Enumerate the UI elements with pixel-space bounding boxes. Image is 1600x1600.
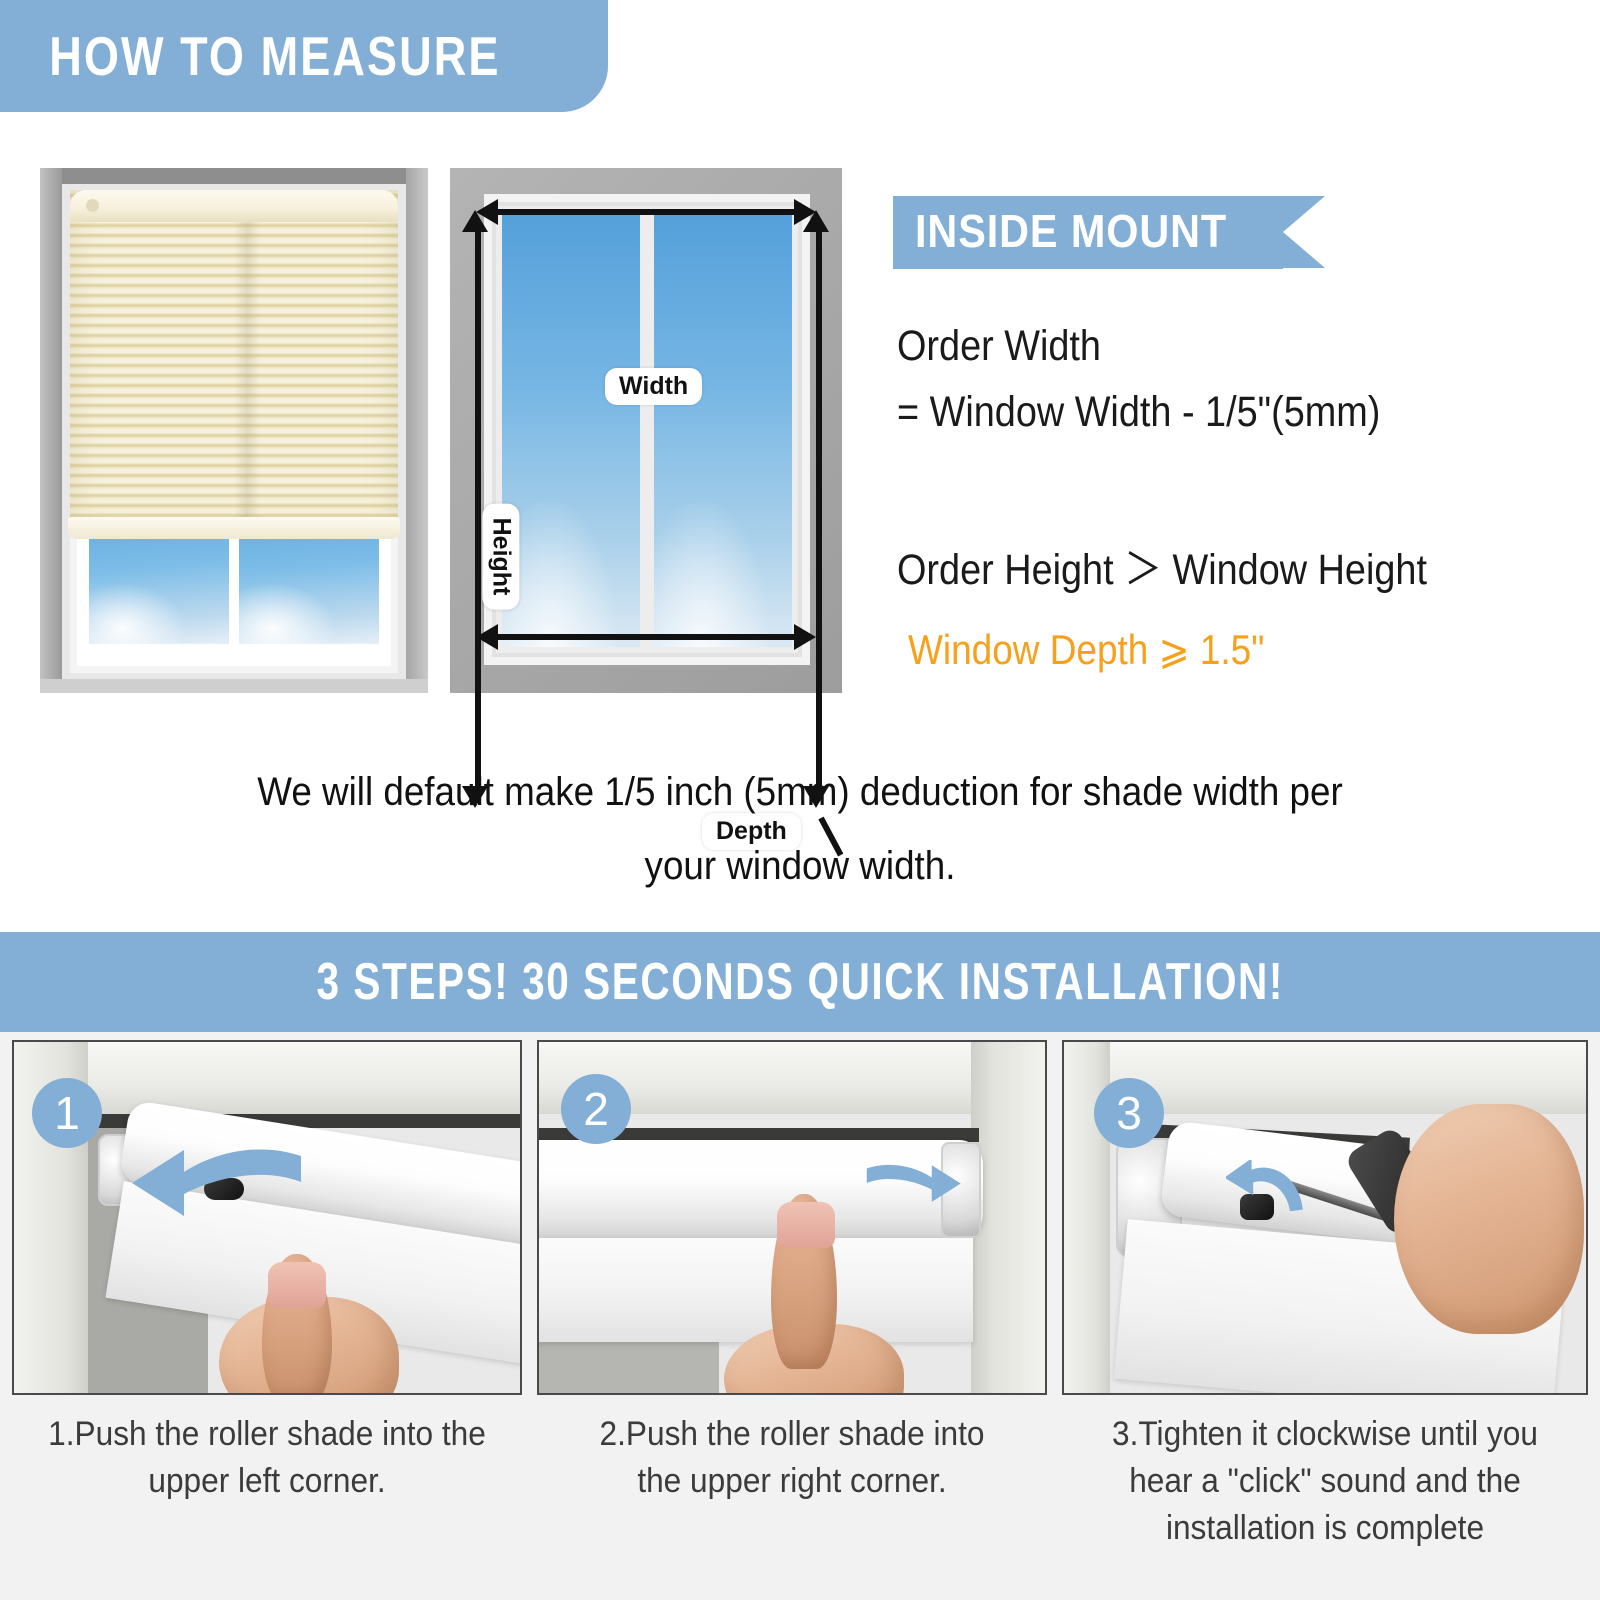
step-3-caption-line1: 3.Tighten it clockwise until you [1080,1411,1569,1458]
cellular-shade [70,190,398,532]
diagram-sky-pane-left [502,212,640,647]
depth-arrow-head-left [476,624,498,650]
step-3-badge: 3 [1094,1078,1164,1148]
step-1-caption: 1.Push the roller shade into the upper l… [12,1411,522,1505]
arrow-right-icon [864,1157,964,1209]
deduction-note-line2: your window width. [156,829,1444,903]
step-3-caption-line3: installation is complete [1080,1505,1569,1552]
installation-steps-section: 1 1.Push the roller shade into the upper… [0,1032,1600,1600]
wall-recess-left [40,168,62,693]
thumbnail [777,1202,835,1248]
step-2-photo: 2 [537,1040,1047,1395]
spec-window-depth: Window Depth ⩾ 1.5" [908,625,1264,674]
width-arrow-line [496,209,796,215]
step-panel-2: 2 2.Push the roller shade into the upper… [537,1040,1047,1505]
wall-recess-right [406,168,428,693]
steps-banner: 3 STEPS! 30 SECONDS QUICK INSTALLATION! [0,932,1600,1032]
step-3-photo: 3 [1062,1040,1588,1395]
headrail-knob-icon [86,199,99,212]
step-2-caption-line2: the upper right corner. [555,1458,1029,1505]
height-arrow-head-up [462,210,488,232]
deduction-note-line1: We will default make 1/5 inch (5mm) dedu… [156,755,1444,829]
depth-arrow-line [496,634,796,640]
arrow-left-icon [126,1142,306,1222]
steps-banner-title: 3 STEPS! 30 SECONDS QUICK INSTALLATION! [316,952,1284,1012]
shade-headrail [70,190,398,222]
roller-fabric [537,1238,973,1342]
spec-order-width-line2: = Window Width - 1/5"(5mm) [897,388,1380,437]
how-to-measure-header: HOW TO MEASURE [0,0,608,112]
step-1-photo: 1 [12,1040,522,1395]
right-edge-arrow-line [816,230,822,790]
window-panes [502,212,792,647]
height-label: Height [482,504,519,610]
wall-recess-top [40,168,428,184]
inside-mount-title: INSIDE MOUNT [915,204,1227,258]
page-title: HOW TO MEASURE [0,24,501,88]
step-2-caption: 2.Push the roller shade into the upper r… [537,1411,1047,1505]
hand [1394,1104,1584,1334]
cellular-shade-photo [40,168,428,693]
shade-shadow [234,222,260,528]
step-1-caption-line2: upper left corner. [30,1458,504,1505]
window-frame [484,194,810,665]
step-1-badge: 1 [32,1078,102,1148]
step-2-badge: 2 [561,1074,631,1144]
step-2-caption-line1: 2.Push the roller shade into [555,1411,1029,1458]
step-panel-1: 1 1.Push the roller shade into the upper… [12,1040,522,1505]
step-panel-3: 3 3.Tighten it clockwise until you hear … [1062,1040,1588,1552]
spec-order-width-line1: Order Width [897,322,1101,371]
diagram-sky-pane-right [654,212,792,647]
step-3-caption: 3.Tighten it clockwise until you hear a … [1062,1411,1588,1552]
step-1-caption-line1: 1.Push the roller shade into the [30,1411,504,1458]
height-arrow-line [475,230,481,790]
window-inner [62,184,406,679]
spec-order-height: Order Height ＞ Window Height [897,535,1427,597]
inside-mount-banner-arrow-point [1283,196,1325,268]
thumbnail [268,1262,326,1308]
wall-recess-bottom [40,679,428,693]
window-measure-diagram: Width Height Depth [450,168,842,693]
how-to-measure-section: HOW TO MEASURE [0,0,1600,925]
shade-bottom-rail [68,517,400,539]
depth-arrow-head-right [794,624,816,650]
width-label: Width [605,368,702,405]
step-3-caption-line2: hear a "click" sound and the [1080,1458,1569,1505]
right-edge-arrow-head-up [803,210,829,232]
deduction-note: We will default make 1/5 inch (5mm) dedu… [100,755,1500,903]
arrow-counter-clockwise-icon [1226,1160,1306,1220]
